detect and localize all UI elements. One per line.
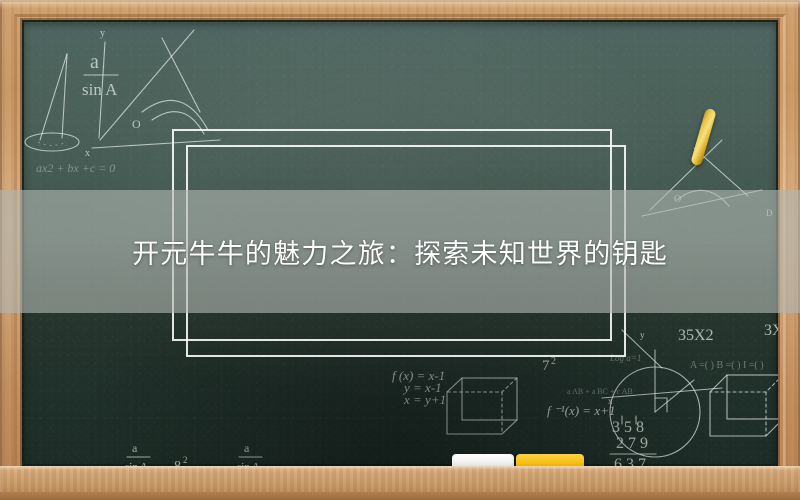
frame-bevel-top xyxy=(0,0,800,9)
chalkboard-banner: a sin A ax2 + bx +c = 0 y x O xyxy=(0,0,800,500)
page-title: 开元牛牛的魅力之旅：探索未知世界的钥匙 xyxy=(132,232,668,271)
title-band: 开元牛牛的魅力之旅：探索未知世界的钥匙 xyxy=(0,190,800,313)
chalk-ledge-lip xyxy=(0,492,800,500)
